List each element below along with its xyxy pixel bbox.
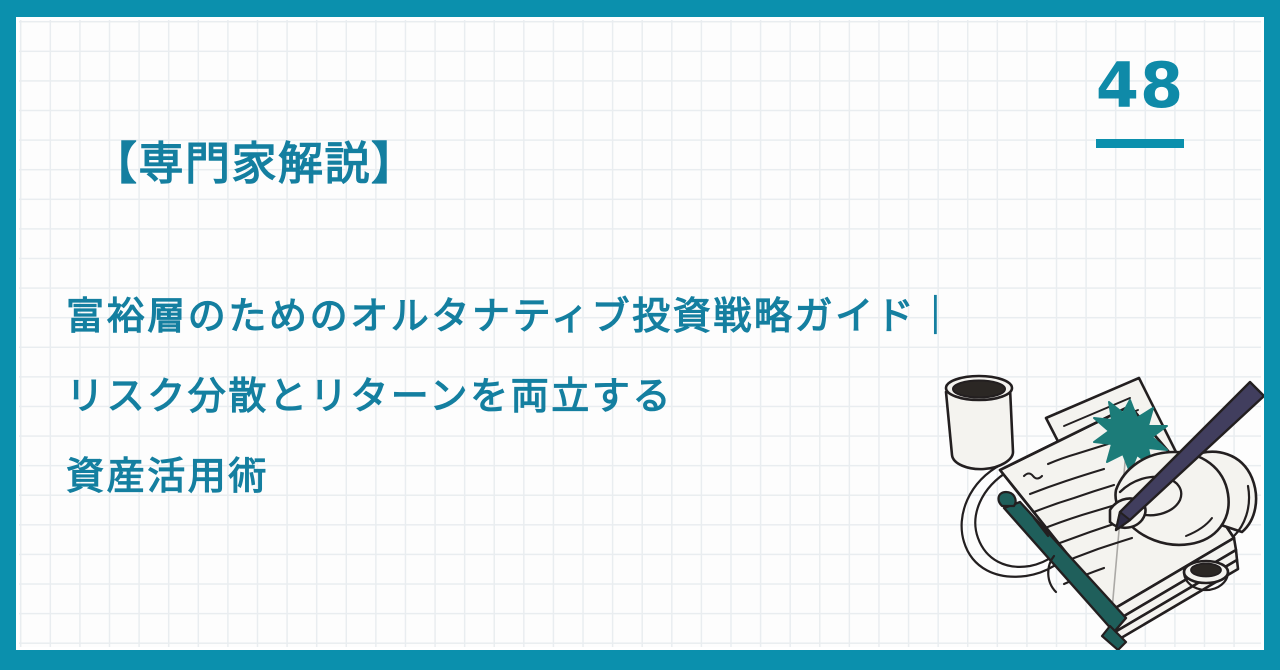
headline-line-1: 富裕層のためのオルタナティブ投資戦略ガイド｜ bbox=[66, 277, 926, 357]
headline-line-2: リスク分散とリターンを両立する bbox=[66, 357, 926, 437]
thumbnail-canvas: 48 【専門家解説】 富裕層のためのオルタナティブ投資戦略ガイド｜ リスク分散と… bbox=[0, 0, 1280, 670]
number-badge: 48 bbox=[1088, 55, 1192, 148]
page-title: 富裕層のためのオルタナティブ投資戦略ガイド｜ リスク分散とリターンを両立する 資… bbox=[66, 277, 926, 517]
number-badge-value: 48 bbox=[1088, 55, 1192, 117]
headline-line-3: 資産活用術 bbox=[66, 437, 926, 517]
number-badge-rule bbox=[1096, 139, 1184, 148]
eyebrow-label: 【専門家解説】 bbox=[92, 139, 418, 189]
